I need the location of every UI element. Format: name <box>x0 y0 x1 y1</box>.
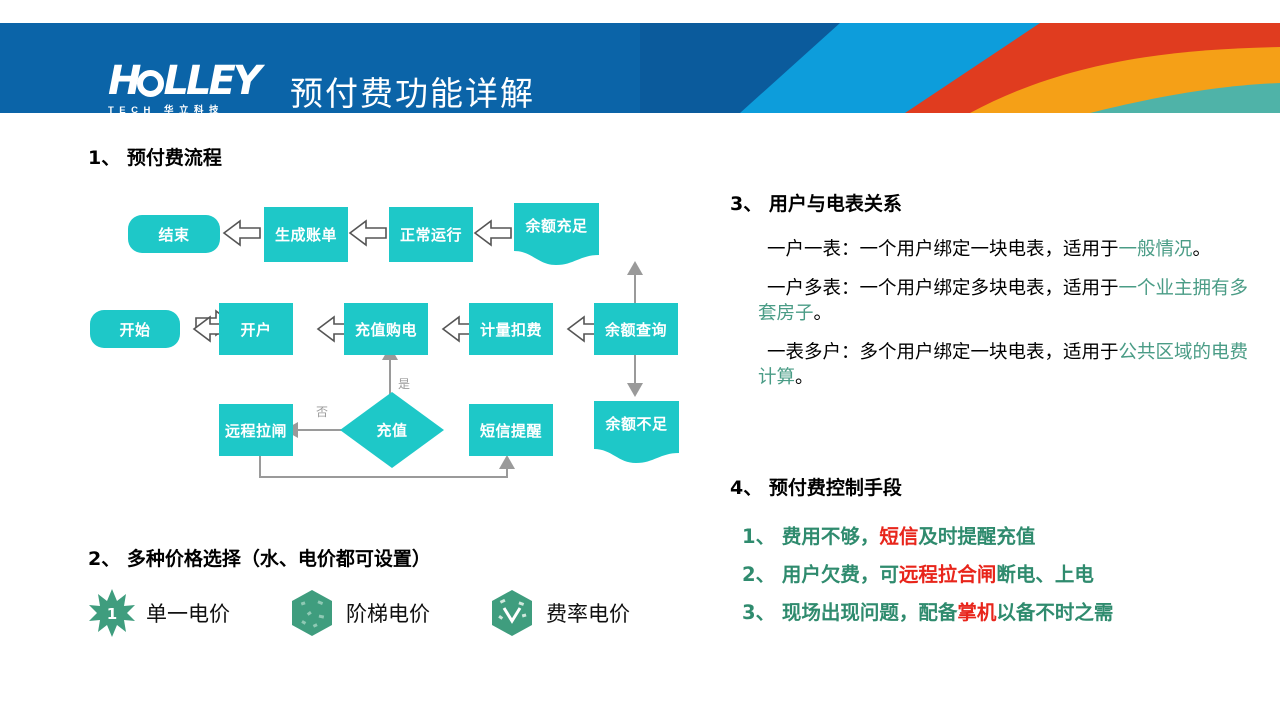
control-post: 及时提醒充值 <box>918 525 1035 548</box>
flow-node-remote-trip[interactable]: 远程拉闸 <box>219 404 293 456</box>
flow-node-end[interactable]: 结束 <box>128 215 220 253</box>
relation-item: 一表多户：多个用户绑定一块电表，适用于公共区域的电费计算。 <box>758 340 1258 390</box>
flow-node-recharge-decision[interactable]: 充值 <box>340 392 444 468</box>
control-item: 2、 用户欠费，可远程拉合闸断电、上电 <box>742 556 1262 594</box>
flow-node-balance-query[interactable]: 余额查询 <box>594 303 678 355</box>
flow-node-start[interactable]: 开始 <box>90 310 180 348</box>
section-4-title: 4、 预付费控制手段 <box>730 473 902 500</box>
flow-edge-label-yes: 是 <box>398 375 410 392</box>
section-1-title: 1、 预付费流程 <box>88 143 222 170</box>
price-option-rate-label: 费率电价 <box>546 598 630 628</box>
flow-node-normal-run[interactable]: 正常运行 <box>389 207 473 262</box>
flow-edge-label-no: 否 <box>316 403 328 420</box>
starburst-icon: 1 <box>88 588 136 638</box>
relation-item: 一户多表：一个用户绑定多块电表，适用于一个业主拥有多套房子。 <box>758 276 1258 326</box>
relation-prefix: 一户一表：一个用户绑定一块电表，适用于 <box>767 239 1119 260</box>
relation-suffix: 。 <box>814 303 833 324</box>
flow-node-metering-deduction[interactable]: 计量扣费 <box>469 303 553 355</box>
price-option-tiered-label: 阶梯电价 <box>346 598 430 628</box>
flow-node-recharge-purchase[interactable]: 充值购电 <box>344 303 428 355</box>
price-option-rate[interactable]: 费率电价 <box>488 588 630 638</box>
control-highlight: 远程拉合闸 <box>899 563 997 586</box>
relation-prefix: 一户多表：一个用户绑定多块电表，适用于 <box>767 278 1119 299</box>
price-option-tiered[interactable]: 阶梯电价 <box>288 588 430 638</box>
price-option-single-label: 单一电价 <box>146 598 230 628</box>
holley-logo: HLLEY TECH 华立科技 <box>108 63 268 113</box>
flow-node-sms-remind[interactable]: 短信提醒 <box>469 404 553 456</box>
relation-prefix: 一表多户：多个用户绑定一块电表，适用于 <box>767 342 1119 363</box>
control-pre: 3、 现场出现问题，配备 <box>742 601 957 624</box>
control-highlight: 短信 <box>879 525 918 548</box>
control-item: 3、 现场出现问题，配备掌机以备不时之需 <box>742 594 1262 632</box>
logo-o-ring <box>137 70 164 97</box>
prepaid-flowchart: 结束 生成账单 正常运行 余额充足 开始 开户 充值购电 计量扣费 余额查询 远… <box>90 185 710 485</box>
page-header: HLLEY TECH 华立科技 预付费功能详解 <box>0 23 1280 113</box>
hexagon-steps-icon <box>288 588 336 638</box>
hexagon-rate-icon <box>488 588 536 638</box>
control-pre: 1、 费用不够， <box>742 525 879 548</box>
user-meter-relations: 一户一表：一个用户绑定一块电表，适用于一般情况。 一户多表：一个用户绑定多块电表… <box>758 237 1258 404</box>
flow-node-balance-insufficient-label: 余额不足 <box>594 413 679 434</box>
section-3-title: 3、 用户与电表关系 <box>730 189 902 216</box>
flow-node-balance-sufficient-label: 余额充足 <box>514 215 599 236</box>
control-item: 1、 费用不够，短信及时提醒充值 <box>742 518 1262 556</box>
flow-node-balance-insufficient[interactable]: 余额不足 <box>594 401 679 463</box>
page-title: 预付费功能详解 <box>290 67 535 113</box>
flow-node-recharge-decision-label: 充值 <box>340 420 444 441</box>
control-post: 以备不时之需 <box>996 601 1113 624</box>
logo-wordmark: HLLEY <box>108 63 268 99</box>
control-measures-list: 1、 费用不够，短信及时提醒充值 2、 用户欠费，可远程拉合闸断电、上电 3、 … <box>742 518 1262 632</box>
price-options-row: 1 单一电价 阶梯电价 <box>88 588 688 658</box>
relation-item: 一户一表：一个用户绑定一块电表，适用于一般情况。 <box>758 237 1258 262</box>
control-post: 断电、上电 <box>996 563 1094 586</box>
control-pre: 2、 用户欠费，可 <box>742 563 899 586</box>
header-decoration-art <box>640 23 1280 113</box>
relation-highlight: 一般情况 <box>1119 239 1193 260</box>
flow-node-open-account[interactable]: 开户 <box>219 303 293 355</box>
flow-node-generate-bill[interactable]: 生成账单 <box>264 207 348 262</box>
control-highlight: 掌机 <box>957 601 996 624</box>
starburst-badge: 1 <box>107 605 117 623</box>
section-2-title: 2、 多种价格选择（水、电价都可设置） <box>88 544 431 571</box>
relation-suffix: 。 <box>795 367 814 388</box>
flow-node-balance-sufficient[interactable]: 余额充足 <box>514 203 599 265</box>
price-option-single[interactable]: 1 单一电价 <box>88 588 230 638</box>
relation-suffix: 。 <box>1193 239 1212 260</box>
